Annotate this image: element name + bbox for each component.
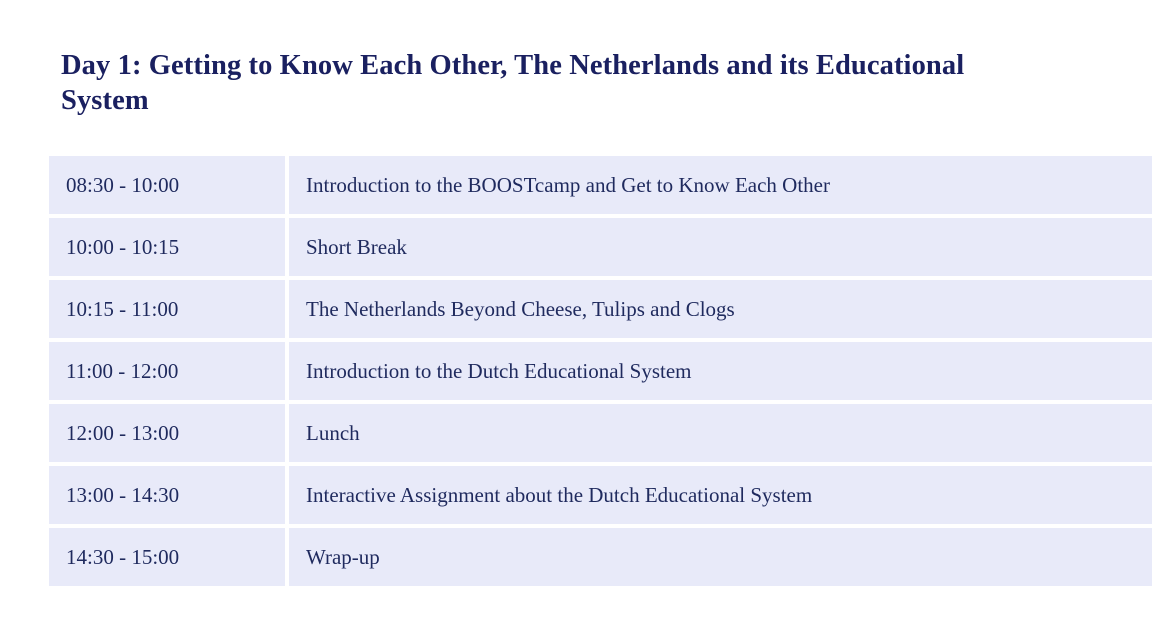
schedule-time-cell: 10:00 - 10:15 bbox=[49, 218, 285, 276]
schedule-activity-cell: Interactive Assignment about the Dutch E… bbox=[289, 466, 1152, 524]
schedule-activity-cell: Short Break bbox=[289, 218, 1152, 276]
schedule-time-cell: 08:30 - 10:00 bbox=[49, 156, 285, 214]
table-row: 12:00 - 13:00 Lunch bbox=[49, 404, 1152, 462]
schedule-activity-cell: Introduction to the Dutch Educational Sy… bbox=[289, 342, 1152, 400]
page-root: Day 1: Getting to Know Each Other, The N… bbox=[0, 0, 1170, 624]
table-row: 10:15 - 11:00 The Netherlands Beyond Che… bbox=[49, 280, 1152, 338]
table-row: 11:00 - 12:00 Introduction to the Dutch … bbox=[49, 342, 1152, 400]
table-row: 14:30 - 15:00 Wrap-up bbox=[49, 528, 1152, 586]
schedule-time-cell: 10:15 - 11:00 bbox=[49, 280, 285, 338]
page-title: Day 1: Getting to Know Each Other, The N… bbox=[61, 48, 1021, 118]
table-row: 13:00 - 14:30 Interactive Assignment abo… bbox=[49, 466, 1152, 524]
schedule-time-cell: 12:00 - 13:00 bbox=[49, 404, 285, 462]
schedule-activity-cell: Lunch bbox=[289, 404, 1152, 462]
schedule-activity-cell: The Netherlands Beyond Cheese, Tulips an… bbox=[289, 280, 1152, 338]
table-row: 10:00 - 10:15 Short Break bbox=[49, 218, 1152, 276]
table-row: 08:30 - 10:00 Introduction to the BOOSTc… bbox=[49, 156, 1152, 214]
schedule-table-body: 08:30 - 10:00 Introduction to the BOOSTc… bbox=[49, 156, 1152, 586]
schedule-time-cell: 14:30 - 15:00 bbox=[49, 528, 285, 586]
schedule-activity-cell: Introduction to the BOOSTcamp and Get to… bbox=[289, 156, 1152, 214]
schedule-activity-cell: Wrap-up bbox=[289, 528, 1152, 586]
schedule-time-cell: 11:00 - 12:00 bbox=[49, 342, 285, 400]
schedule-table: 08:30 - 10:00 Introduction to the BOOSTc… bbox=[45, 152, 1156, 590]
schedule-time-cell: 13:00 - 14:30 bbox=[49, 466, 285, 524]
